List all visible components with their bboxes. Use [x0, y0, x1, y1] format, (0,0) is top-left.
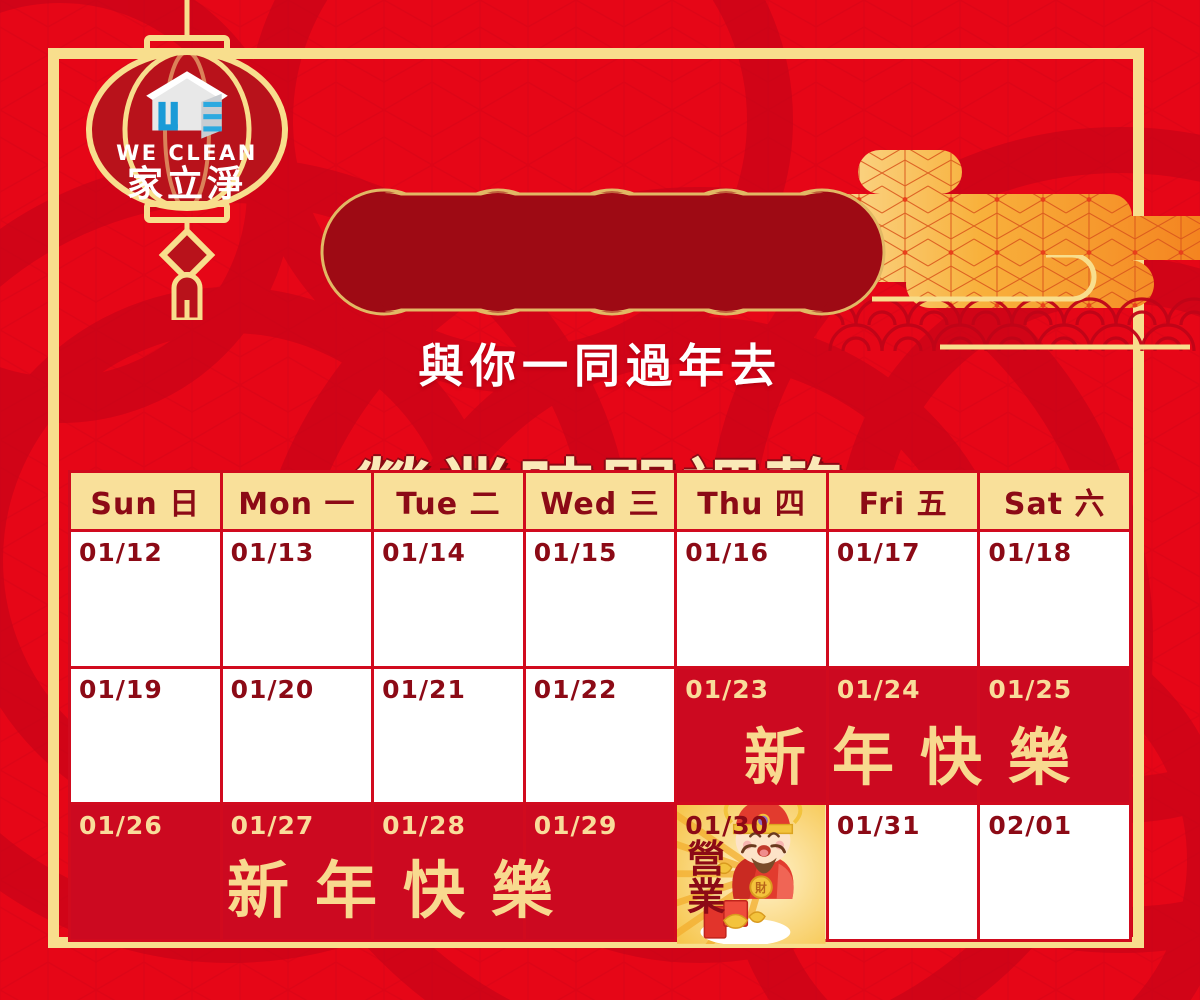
- svg-text:財: 財: [754, 881, 767, 895]
- open-status-label: 營 業: [683, 841, 729, 915]
- day-date: 01/15: [534, 538, 618, 567]
- day-cell-open-special[interactable]: 財: [677, 805, 826, 939]
- day-date: 02/01: [988, 811, 1072, 840]
- calendar: Sun 日 Mon 一 Tue 二 Wed 三 Thu 四 Fri 五 Sat …: [68, 470, 1132, 942]
- day-cell-holiday[interactable]: 01/24: [829, 669, 978, 803]
- day-cell[interactable]: 01/16: [677, 532, 826, 666]
- open-label-line2: 業: [683, 879, 729, 916]
- lantern-logo-zh: 家立淨: [127, 164, 247, 205]
- weekday-header-thu: Thu 四: [677, 473, 826, 529]
- day-date: 01/21: [382, 675, 466, 704]
- day-date: 01/24: [837, 675, 921, 704]
- calendar-header-row: Sun 日 Mon 一 Tue 二 Wed 三 Thu 四 Fri 五 Sat …: [71, 473, 1129, 529]
- day-date: 01/20: [231, 675, 315, 704]
- day-date: 01/22: [534, 675, 618, 704]
- day-cell[interactable]: 01/12: [71, 532, 220, 666]
- weekday-header-sat: Sat 六: [980, 473, 1129, 529]
- day-cell[interactable]: 01/21: [374, 669, 523, 803]
- weekday-header-tue: Tue 二: [374, 473, 523, 529]
- day-cell[interactable]: 01/19: [71, 669, 220, 803]
- title-plaque: [318, 188, 888, 316]
- day-cell-holiday[interactable]: 01/25: [980, 669, 1129, 803]
- day-cell[interactable]: 02/01: [980, 805, 1129, 939]
- weekday-header-mon: Mon 一: [223, 473, 372, 529]
- day-date: 01/14: [382, 538, 466, 567]
- day-cell[interactable]: 01/22: [526, 669, 675, 803]
- day-date: 01/23: [685, 675, 769, 704]
- day-cell[interactable]: 01/20: [223, 669, 372, 803]
- day-date: 01/13: [231, 538, 315, 567]
- lantern-logo-en: WE CLEAN: [116, 141, 258, 165]
- day-date: 01/30: [685, 811, 769, 840]
- day-cell-holiday[interactable]: 01/29: [526, 805, 675, 939]
- lantern-logo: WE CLEAN 家立淨: [62, 0, 312, 320]
- weekday-header-fri: Fri 五: [829, 473, 978, 529]
- day-date: 01/29: [534, 811, 618, 840]
- day-cell[interactable]: 01/18: [980, 532, 1129, 666]
- day-date: 01/26: [79, 811, 163, 840]
- day-cell[interactable]: 01/14: [374, 532, 523, 666]
- day-date: 01/17: [837, 538, 921, 567]
- day-date: 01/16: [685, 538, 769, 567]
- open-label-line1: 營: [683, 841, 729, 878]
- day-cell[interactable]: 01/31: [829, 805, 978, 939]
- day-cell[interactable]: 01/13: [223, 532, 372, 666]
- weekday-header-sun: Sun 日: [71, 473, 220, 529]
- weekday-header-wed: Wed 三: [526, 473, 675, 529]
- day-cell-holiday[interactable]: 01/26: [71, 805, 220, 939]
- day-date: 01/18: [988, 538, 1072, 567]
- day-date: 01/31: [837, 811, 921, 840]
- poster-root: WE CLEAN 家立淨 營業時間調整 與你一同過年去 Sun 日 Mon 一 …: [0, 0, 1200, 1000]
- day-cell-holiday[interactable]: 01/28: [374, 805, 523, 939]
- calendar-body: 01/12 01/13 01/14 01/15 01/16 01/17 01/1…: [71, 532, 1129, 939]
- day-cell-holiday[interactable]: 01/27: [223, 805, 372, 939]
- day-cell[interactable]: 01/15: [526, 532, 675, 666]
- day-date: 01/25: [988, 675, 1072, 704]
- day-cell[interactable]: 01/17: [829, 532, 978, 666]
- page-subtitle: 與你一同過年去: [0, 330, 1200, 396]
- day-date: 01/19: [79, 675, 163, 704]
- day-date: 01/12: [79, 538, 163, 567]
- day-date: 01/28: [382, 811, 466, 840]
- day-cell-holiday[interactable]: 01/23: [677, 669, 826, 803]
- day-date: 01/27: [231, 811, 315, 840]
